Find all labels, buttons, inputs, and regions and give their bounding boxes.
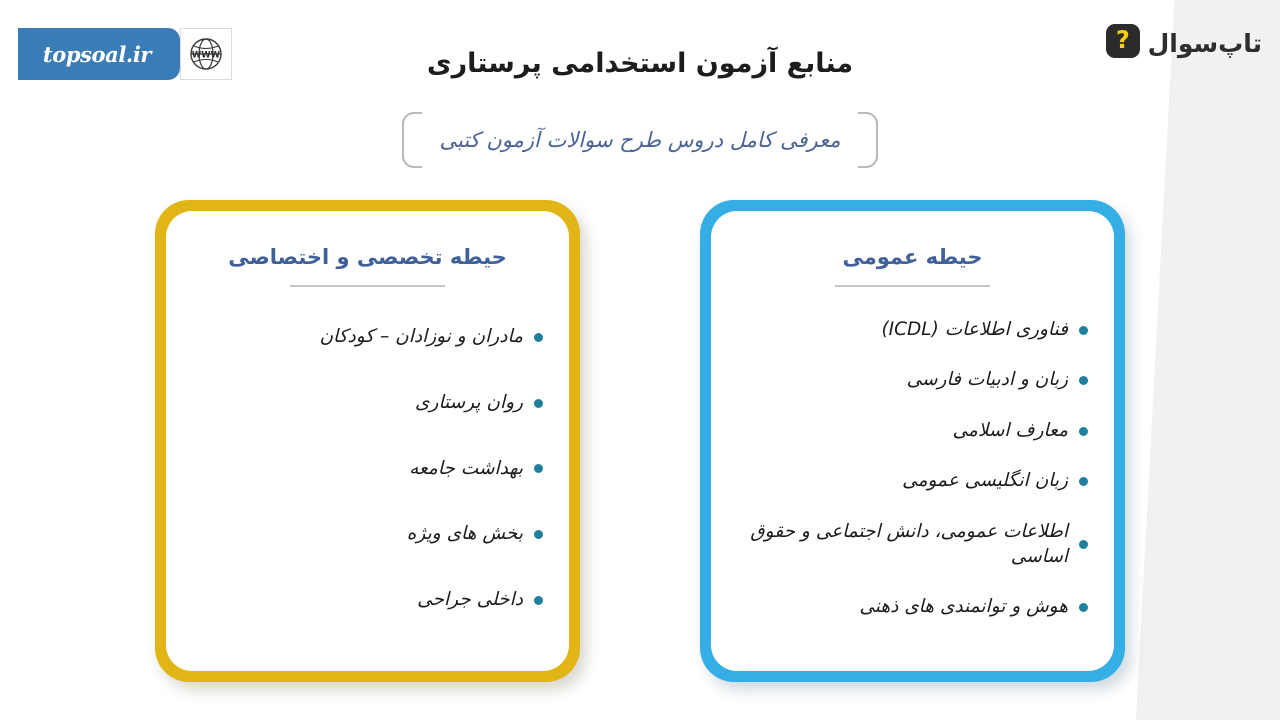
bullet-icon	[534, 333, 543, 342]
list-item-label: بهداشت جامعه	[409, 457, 523, 482]
globe-www-icon: WWW	[180, 28, 232, 80]
site-logo-wordmark: topsoal.ir	[43, 42, 151, 67]
list-item[interactable]: مادران و نوزادان – کودکان	[192, 325, 543, 350]
card-general-list: فناوری اطلاعات (ICDL) زبان و ادبیات فارس…	[737, 297, 1088, 651]
list-item[interactable]: هوش و توانمندی های ذهنی	[737, 595, 1088, 620]
card-general-inner: حیطه عمومی فناوری اطلاعات (ICDL) زبان و …	[711, 211, 1114, 671]
list-item-label: اطلاعات عمومی، دانش اجتماعی و حقوق اساسی	[737, 520, 1068, 570]
card-specialized-list: مادران و نوزادان – کودکان روان پرستاری ب…	[192, 297, 543, 651]
list-item[interactable]: بهداشت جامعه	[192, 457, 543, 482]
list-item-label: مادران و نوزادان – کودکان	[319, 325, 523, 350]
list-item[interactable]: اطلاعات عمومی، دانش اجتماعی و حقوق اساسی	[737, 520, 1088, 570]
card-general: حیطه عمومی فناوری اطلاعات (ICDL) زبان و …	[700, 200, 1125, 682]
brand-wordmark: تاپ‌سوال	[1148, 27, 1262, 56]
list-item-label: داخلی جراحی	[417, 588, 523, 613]
list-item[interactable]: فناوری اطلاعات (ICDL)	[737, 318, 1088, 343]
list-item[interactable]: روان پرستاری	[192, 391, 543, 416]
list-item[interactable]: زبان انگلیسی عمومی	[737, 469, 1088, 494]
question-mark-icon: ؟	[1106, 24, 1140, 58]
bracket-right-icon	[858, 112, 878, 168]
site-logo-wordmark-box: topsoal.ir	[18, 28, 180, 80]
question-mark-glyph: ؟	[1116, 28, 1130, 52]
list-item-label: زبان و ادبیات فارسی	[907, 368, 1068, 393]
list-item[interactable]: داخلی جراحی	[192, 588, 543, 613]
bullet-icon	[534, 464, 543, 473]
bullet-icon	[1079, 326, 1088, 335]
slide-canvas: WWW topsoal.ir تاپ‌سوال ؟ منابع آزمون اس…	[0, 0, 1280, 720]
subtitle-group: معرفی کامل دروس طرح سوالات آزمون کتبی	[0, 112, 1280, 168]
list-item-label: زبان انگلیسی عمومی	[902, 469, 1068, 494]
bullet-icon	[1079, 477, 1088, 486]
bullet-icon	[534, 530, 543, 539]
card-specialized-divider	[290, 285, 445, 287]
bracket-left-icon	[402, 112, 422, 168]
brand-logo[interactable]: تاپ‌سوال ؟	[1106, 24, 1262, 58]
card-specialized-inner: حیطه تخصصی و اختصاصی مادران و نوزادان – …	[166, 211, 569, 671]
decorative-diagonal-band	[1120, 0, 1280, 720]
card-general-divider	[835, 285, 990, 287]
list-item[interactable]: بخش های ویژه	[192, 522, 543, 547]
bullet-icon	[534, 596, 543, 605]
list-item-label: فناوری اطلاعات (ICDL)	[881, 318, 1068, 343]
list-item-label: هوش و توانمندی های ذهنی	[859, 595, 1068, 620]
list-item[interactable]: معارف اسلامی	[737, 419, 1088, 444]
site-logo[interactable]: WWW topsoal.ir	[18, 28, 232, 80]
bullet-icon	[1079, 603, 1088, 612]
bullet-icon	[1079, 540, 1088, 549]
bullet-icon	[1079, 427, 1088, 436]
list-item-label: بخش های ویژه	[407, 522, 523, 547]
page-subtitle: معرفی کامل دروس طرح سوالات آزمون کتبی	[422, 128, 859, 152]
list-item[interactable]: زبان و ادبیات فارسی	[737, 368, 1088, 393]
card-specialized-title: حیطه تخصصی و اختصاصی	[228, 245, 507, 269]
card-general-title: حیطه عمومی	[842, 245, 982, 269]
globe-icon-label: WWW	[192, 51, 221, 61]
list-item-label: روان پرستاری	[415, 391, 523, 416]
bullet-icon	[534, 399, 543, 408]
bullet-icon	[1079, 376, 1088, 385]
list-item-label: معارف اسلامی	[953, 419, 1068, 444]
card-specialized: حیطه تخصصی و اختصاصی مادران و نوزادان – …	[155, 200, 580, 682]
